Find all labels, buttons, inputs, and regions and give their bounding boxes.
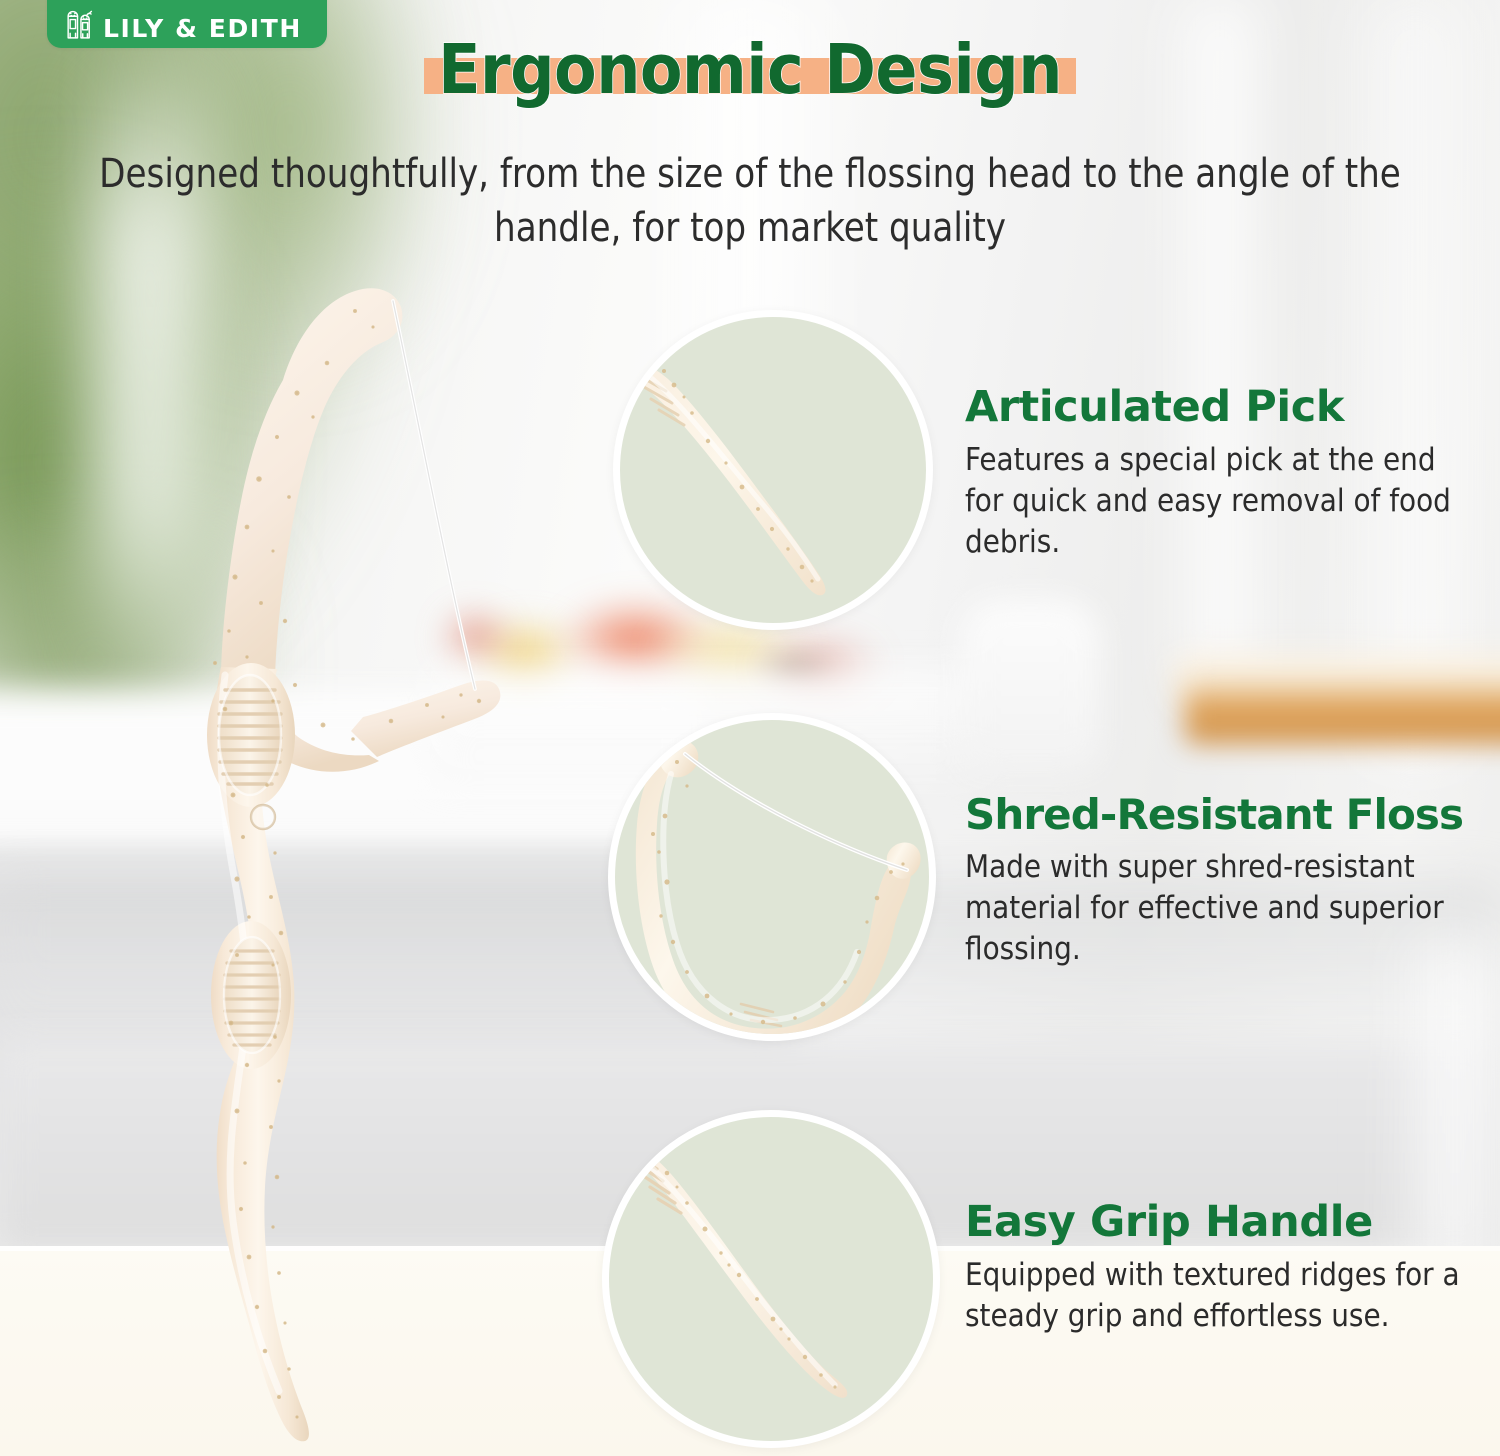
page-subtitle: Designed thoughtfully, from the size of … — [95, 148, 1406, 255]
page-title-wrapper: Ergonomic Design — [0, 34, 1500, 106]
feature-title: Articulated Pick — [965, 385, 1475, 431]
page-title-inner: Ergonomic Design — [438, 34, 1062, 106]
textured-grip-handle-closeup-icon — [609, 1117, 940, 1448]
callout-circle-grip-handle — [602, 1110, 940, 1448]
floss-head-closeup-icon — [615, 720, 936, 1041]
blurred-wooden-tray — [1185, 690, 1500, 744]
blurred-white-jar — [960, 600, 1100, 770]
feature-title: Easy Grip Handle — [965, 1200, 1475, 1246]
feature-title: Shred-Resistant Floss — [965, 793, 1475, 838]
product-floss-pick-image — [155, 265, 555, 1445]
feature-body: Made with super shred-resistant material… — [965, 847, 1475, 971]
callout-circle-floss-head — [608, 713, 936, 1041]
feature-easy-grip-handle: Easy Grip Handle Equipped with textured … — [965, 1200, 1475, 1337]
infographic-page: LILY & EDITH Ergonomic Design Designed t… — [0, 0, 1500, 1456]
blurred-wall-panel-right-2 — [1340, 0, 1490, 760]
feature-body: Features a special pick at the end for q… — [965, 440, 1475, 564]
floss-pick-tip-closeup-icon — [620, 317, 933, 630]
feature-articulated-pick: Articulated Pick Features a special pick… — [965, 385, 1475, 563]
page-title: Ergonomic Design — [438, 30, 1062, 110]
callout-circle-pick-tip — [613, 310, 933, 630]
feature-body: Equipped with textured ridges for a stea… — [965, 1255, 1475, 1337]
feature-shred-resistant-floss: Shred-Resistant Floss Made with super sh… — [965, 793, 1475, 970]
